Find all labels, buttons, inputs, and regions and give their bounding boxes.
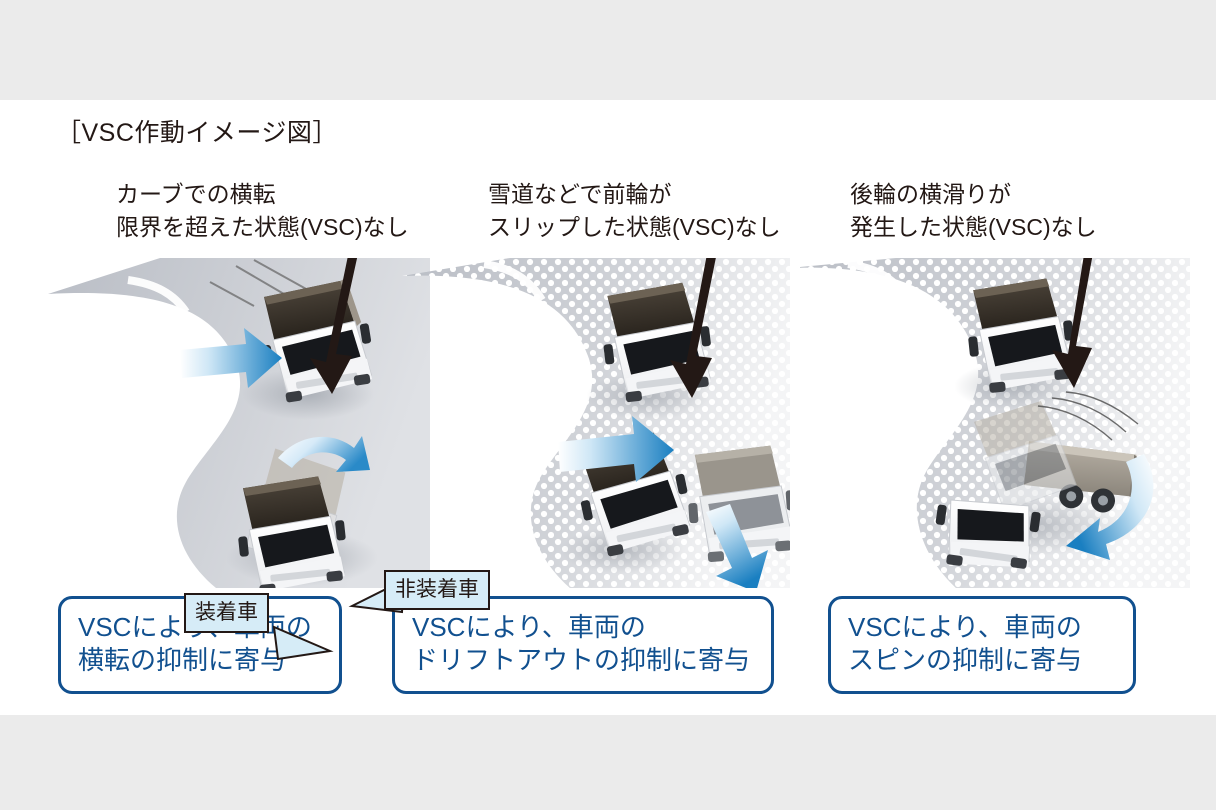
- panel-drift-out-heading-line2: スリップした状態(VSC)なし: [488, 211, 781, 244]
- panel-rollover-scene: [40, 258, 430, 588]
- panel-drift-out-scene: [400, 258, 790, 588]
- callout-not-fitted-label: 非装着車: [395, 578, 479, 601]
- panel-rollover: カーブでの横転 限界を超えた状態(VSC)なし: [36, 170, 426, 590]
- caption-spin-line2: スピンの抑制に寄与: [848, 644, 1117, 677]
- panel-spin-heading-line2: 発生した状態(VSC)なし: [850, 211, 1097, 244]
- panel-drift-out: 雪道などで前輪が スリップした状態(VSC)なし: [400, 170, 790, 590]
- panel-spin-heading: 後輪の横滑りが 発生した状態(VSC)なし: [850, 178, 1097, 245]
- caption-spin: VSCにより、車両の スピンの抑制に寄与: [828, 596, 1136, 694]
- callout-not-fitted-vehicle: 非装着車: [384, 570, 490, 610]
- callout-fitted-label: 装着車: [195, 601, 258, 624]
- panel-drift-out-heading: 雪道などで前輪が スリップした状態(VSC)なし: [488, 178, 781, 245]
- panel-spin-heading-line1: 後輪の横滑りが: [850, 178, 1097, 211]
- callout-fitted-vehicle: 装着車: [184, 593, 269, 633]
- figure-stage: ［VSC作動イメージ図］ カーブでの横転 限界を超えた状態(VSC)なし: [0, 0, 1216, 810]
- caption-drift-out-line1: VSCにより、車両の: [412, 611, 755, 644]
- panel-spin-scene: [800, 258, 1190, 588]
- panel-rollover-heading: カーブでの横転 限界を超えた状態(VSC)なし: [116, 178, 409, 245]
- panel-rollover-heading-line2: 限界を超えた状態(VSC)なし: [116, 211, 409, 244]
- panel-rollover-heading-line1: カーブでの横転: [116, 178, 409, 211]
- panel-spin: 後輪の横滑りが 発生した状態(VSC)なし: [800, 170, 1190, 590]
- caption-drift-out: VSCにより、車両の ドリフトアウトの抑制に寄与: [392, 596, 774, 694]
- panel-drift-out-heading-line1: 雪道などで前輪が: [488, 178, 781, 211]
- callout-fitted-tail: [272, 625, 342, 679]
- caption-spin-line1: VSCにより、車両の: [848, 611, 1117, 644]
- caption-drift-out-line2: ドリフトアウトの抑制に寄与: [412, 644, 755, 677]
- figure-title: ［VSC作動イメージ図］: [56, 120, 338, 148]
